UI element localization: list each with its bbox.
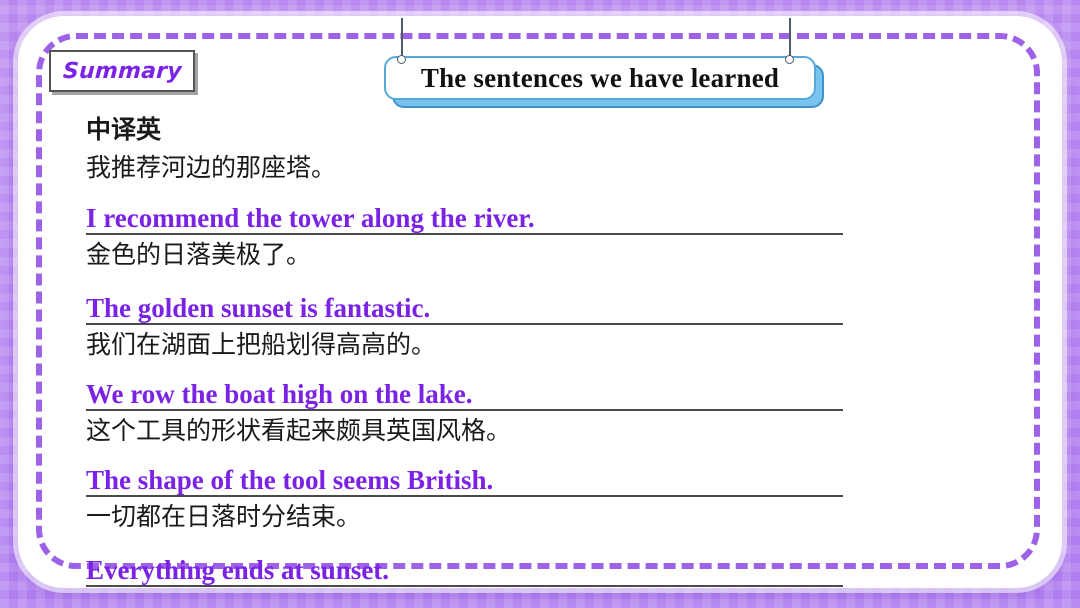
banner-title-text: The sentences we have learned [421, 63, 779, 94]
answer-text-5: Everything ends at sunset. [86, 557, 389, 584]
prompt-chinese-5: 一切都在日落时分结束。 [86, 497, 986, 535]
answer-line-4[interactable]: The shape of the tool seems British. [86, 449, 843, 497]
answer-text-2: The golden sunset is fantastic. [86, 295, 430, 322]
hanging-string-right-icon [789, 18, 791, 58]
summary-label-text: Summary [62, 59, 182, 84]
title-banner: The sentences we have learned [378, 18, 828, 108]
hanging-string-left-icon [401, 18, 403, 58]
hanging-ring-left-icon [397, 55, 406, 64]
prompt-chinese-4: 这个工具的形状看起来颇具英国风格。 [86, 411, 986, 449]
answer-line-2[interactable]: The golden sunset is fantastic. [86, 273, 843, 325]
answer-text-4: The shape of the tool seems British. [86, 467, 493, 494]
exercise-content: 中译英 我推荐河边的那座塔。 I recommend the tower alo… [86, 112, 986, 587]
section-heading: 中译英 [86, 112, 986, 148]
answer-line-3[interactable]: We row the boat high on the lake. [86, 363, 843, 411]
answer-text-3: We row the boat high on the lake. [86, 381, 473, 408]
banner-box: The sentences we have learned [384, 56, 816, 100]
answer-line-5[interactable]: Everything ends at sunset. [86, 535, 843, 587]
prompt-chinese-1: 我推荐河边的那座塔。 [86, 148, 986, 187]
summary-label-box: Summary [49, 50, 195, 92]
slide-background: Summary The sentences we have learned 中译… [0, 0, 1080, 608]
hanging-ring-right-icon [785, 55, 794, 64]
prompt-chinese-3: 我们在湖面上把船划得高高的。 [86, 325, 986, 363]
answer-line-1[interactable]: I recommend the tower along the river. [86, 187, 843, 235]
prompt-chinese-2: 金色的日落美极了。 [86, 235, 986, 273]
answer-text-1: I recommend the tower along the river. [86, 205, 535, 232]
